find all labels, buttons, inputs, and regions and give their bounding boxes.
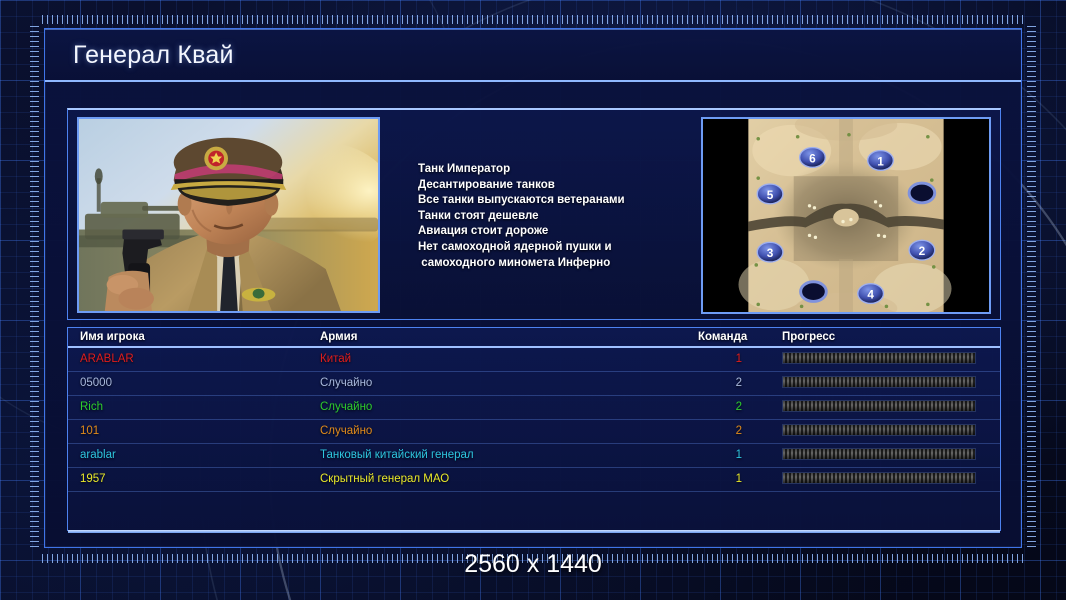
column-header-army: Армия	[320, 331, 357, 343]
general-description: Танк Император Десантирование танков Все…	[418, 162, 718, 271]
column-header-progress: Прогресс	[782, 331, 835, 343]
player-team: 1	[698, 353, 742, 365]
svg-text:5: 5	[767, 188, 774, 202]
map-preview-art: 6 1 5 3 2 4	[703, 119, 989, 313]
progress-bar-fill	[783, 473, 975, 483]
player-army: Танковый китайский генерал	[320, 449, 474, 461]
player-progress-bar	[782, 352, 976, 364]
player-name: 05000	[80, 377, 112, 389]
player-name: ARABLAR	[80, 353, 134, 365]
player-team: 2	[698, 401, 742, 413]
page-title: Генерал Квай	[73, 41, 234, 70]
player-list-panel: Имя игрока Армия Команда Прогресс ARABLA…	[67, 327, 1001, 531]
general-info-window: Генерал Квай	[44, 28, 1022, 548]
column-header-name: Имя игрока	[80, 331, 145, 343]
player-name: 101	[80, 425, 99, 437]
player-army: Случайно	[320, 377, 372, 389]
window-title-bar: Генерал Квай	[45, 29, 1021, 82]
svg-text:6: 6	[809, 151, 816, 165]
resolution-overlay: 2560 x 1440	[0, 550, 1066, 579]
table-row[interactable]: 1957Скрытный генерал МАО1	[68, 468, 1000, 492]
player-army: Китай	[320, 353, 351, 365]
progress-bar-fill	[783, 449, 975, 459]
description-line: Все танки выпускаются ветеранами	[418, 193, 718, 209]
player-army: Случайно	[320, 425, 372, 437]
svg-text:3: 3	[767, 246, 774, 260]
ruler-right-icon	[1027, 26, 1036, 550]
player-team: 1	[698, 473, 742, 485]
general-portrait-art	[79, 119, 378, 312]
player-name: 1957	[80, 473, 106, 485]
player-name: arablar	[80, 449, 116, 461]
description-line: самоходного миномета Инферно	[418, 256, 718, 272]
player-team: 2	[698, 425, 742, 437]
ruler-left-icon	[30, 26, 39, 550]
player-progress-bar	[782, 424, 976, 436]
table-row[interactable]: 05000Случайно2	[68, 372, 1000, 396]
progress-bar-fill	[783, 425, 975, 435]
description-line: Авиация стоит дороже	[418, 224, 718, 240]
player-army: Скрытный генерал МАО	[320, 473, 449, 485]
svg-text:1: 1	[877, 154, 884, 168]
progress-bar-fill	[783, 377, 975, 387]
table-row[interactable]: RichСлучайно2	[68, 396, 1000, 420]
player-list-header: Имя игрока Армия Команда Прогресс	[68, 328, 1000, 348]
svg-text:4: 4	[867, 287, 874, 301]
svg-text:2: 2	[919, 244, 926, 258]
table-row[interactable]: ARABLARКитай1	[68, 348, 1000, 372]
player-team: 2	[698, 377, 742, 389]
player-progress-bar	[782, 400, 976, 412]
general-portrait	[77, 117, 380, 313]
table-row[interactable]: 101Случайно2	[68, 420, 1000, 444]
description-line: Нет самоходной ядерной пушки и	[418, 240, 718, 256]
general-info-panel: Танк Император Десантирование танков Все…	[67, 108, 1001, 320]
table-row[interactable]: arablarТанковый китайский генерал1	[68, 444, 1000, 468]
player-team: 1	[698, 449, 742, 461]
player-rows: ARABLARКитай105000Случайно2RichСлучайно2…	[68, 348, 1000, 492]
description-line: Танк Император	[418, 162, 718, 178]
player-progress-bar	[782, 376, 976, 388]
progress-bar-fill	[783, 401, 975, 411]
progress-bar-fill	[783, 353, 975, 363]
player-army: Случайно	[320, 401, 372, 413]
player-name: Rich	[80, 401, 103, 413]
column-header-team: Команда	[698, 331, 747, 343]
description-line: Десантирование танков	[418, 178, 718, 194]
ruler-top-icon	[42, 15, 1024, 24]
description-line: Танки стоят дешевле	[418, 209, 718, 225]
player-progress-bar	[782, 472, 976, 484]
map-preview[interactable]: 6 1 5 3 2 4	[701, 117, 991, 314]
player-progress-bar	[782, 448, 976, 460]
